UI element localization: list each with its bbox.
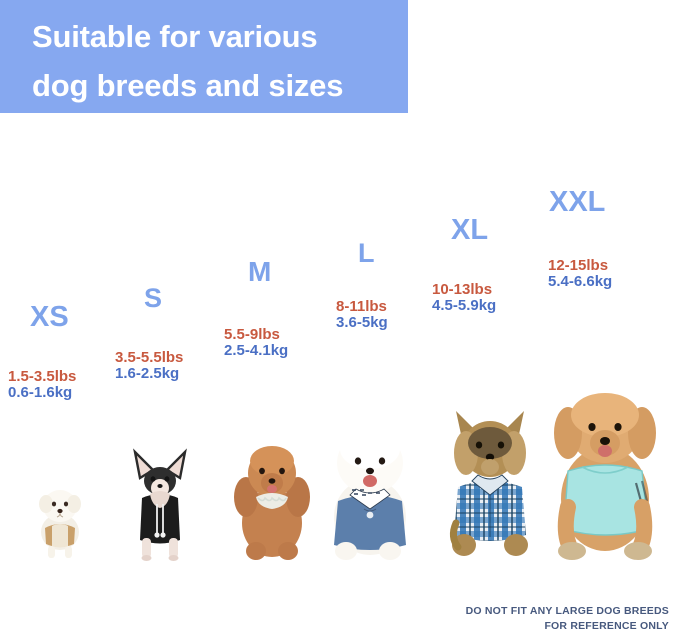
size-label-m: M <box>248 258 271 286</box>
weights-m: 5.5-9lbs 2.5-4.1kg <box>224 327 288 359</box>
weights-xs: 1.5-3.5lbs 0.6-1.6kg <box>8 369 76 401</box>
banner-title-line-2: dog breeds and sizes <box>32 70 343 101</box>
yorkshire-terrier-icon <box>432 405 548 563</box>
weights-s: 3.5-5.5lbs 1.6-2.5kg <box>115 350 183 382</box>
weight-lbs-xl: 10-13lbs <box>432 282 496 298</box>
toy-poodle-icon <box>226 431 318 563</box>
weights-l: 8-11lbs 3.6-5kg <box>336 299 388 331</box>
goldendoodle-icon <box>538 387 672 563</box>
dog-illustrations-row <box>0 400 679 565</box>
size-label-xxl: XXL <box>549 188 605 217</box>
dog-photo-l <box>316 417 424 563</box>
weight-lbs-s: 3.5-5.5lbs <box>115 350 183 366</box>
size-label-s: S <box>144 285 162 312</box>
weights-xl: 10-13lbs 4.5-5.9kg <box>432 282 496 314</box>
weight-kg-xl: 4.5-5.9kg <box>432 298 496 314</box>
header-banner: Suitable for various dog breeds and size… <box>0 0 408 113</box>
size-chart-page: Suitable for various dog breeds and size… <box>0 0 679 642</box>
weight-lbs-l: 8-11lbs <box>336 299 388 315</box>
size-label-xs: XS <box>30 303 69 332</box>
size-label-l: L <box>358 240 375 267</box>
chihuahua-icon <box>122 448 198 563</box>
disclaimer-footer: DO NOT FIT ANY LARGE DOG BREEDS FOR REFE… <box>466 604 669 634</box>
weight-kg-m: 2.5-4.1kg <box>224 343 288 359</box>
dog-photo-xs <box>28 470 92 560</box>
weights-xxl: 12-15lbs 5.4-6.6kg <box>548 258 612 290</box>
weight-lbs-m: 5.5-9lbs <box>224 327 288 343</box>
dog-photo-s <box>122 448 198 563</box>
weight-kg-l: 3.6-5kg <box>336 315 388 331</box>
weight-kg-s: 1.6-2.5kg <box>115 366 183 382</box>
disclaimer-line-1: DO NOT FIT ANY LARGE DOG BREEDS <box>466 604 669 619</box>
banner-title-line-1: Suitable for various <box>32 21 317 52</box>
weight-lbs-xs: 1.5-3.5lbs <box>8 369 76 385</box>
dog-photo-xl <box>432 405 548 563</box>
weight-lbs-xxl: 12-15lbs <box>548 258 612 274</box>
maltese-puppy-icon <box>28 470 92 560</box>
weight-kg-xxl: 5.4-6.6kg <box>548 274 612 290</box>
weight-kg-xs: 0.6-1.6kg <box>8 385 76 401</box>
disclaimer-line-2: FOR REFERENCE ONLY <box>466 619 669 634</box>
dog-photo-xxl <box>538 387 672 563</box>
dog-photo-m <box>226 431 318 563</box>
bichon-frise-icon <box>316 417 424 563</box>
size-label-xl: XL <box>451 216 488 245</box>
